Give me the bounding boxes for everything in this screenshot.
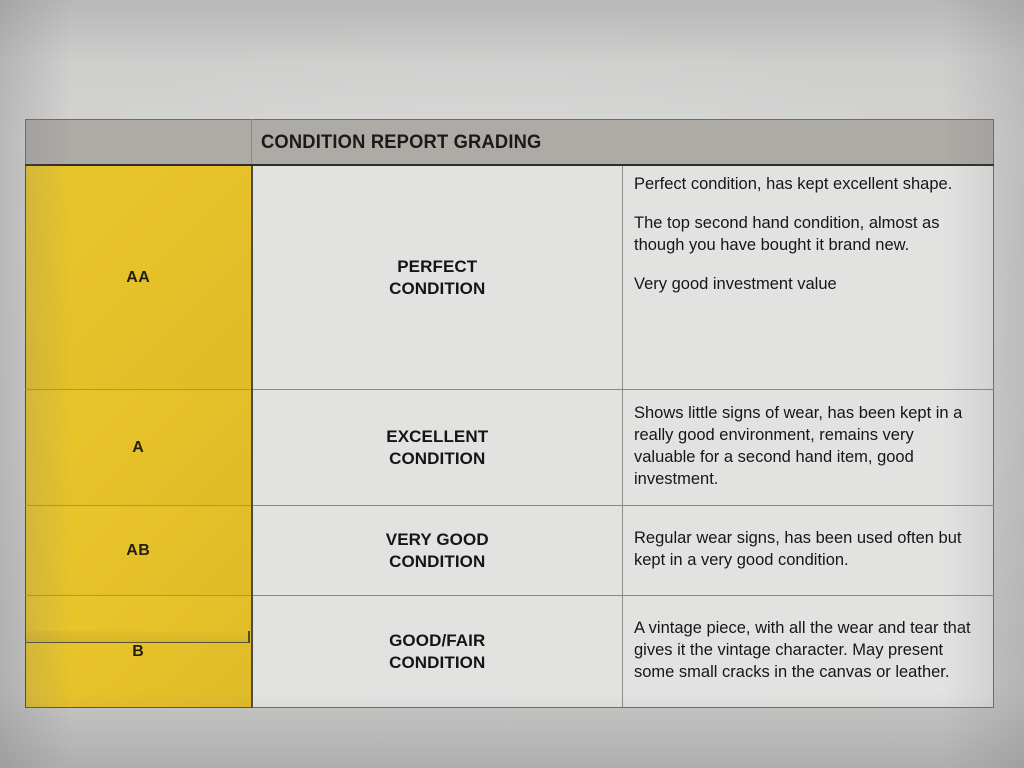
table-header: CONDITION REPORT GRADING [26,120,994,166]
condition-label-line-2: CONDITION [253,278,623,300]
description-cell-b: A vintage piece, with all the wear and t… [623,596,994,708]
grade-badge-a: A [26,390,252,506]
page-title: CONDITION REPORT GRADING [261,131,541,154]
grade-column-overhang [25,631,250,643]
condition-label-ab: VERY GOOD CONDITION [252,506,623,596]
condition-report-table-container: CONDITION REPORT GRADING AA PERFECT COND… [25,119,994,708]
condition-label-line-1: PERFECT [253,256,623,278]
condition-label-line-1: EXCELLENT [253,426,623,448]
table-body: AA PERFECT CONDITION Perfect condition, … [26,165,994,708]
condition-label-b: GOOD/FAIR CONDITION [252,596,623,708]
condition-label-line-2: CONDITION [253,448,623,470]
condition-label-line-1: GOOD/FAIR [253,630,623,652]
description-paragraph: Shows little signs of wear, has been kep… [634,403,979,491]
table-header-row: CONDITION REPORT GRADING [26,120,994,166]
description-paragraph: The top second hand condition, almost as… [634,213,979,257]
condition-label-aa: PERFECT CONDITION [252,165,623,390]
grade-badge-ab: AB [26,506,252,596]
header-grade-spacer [26,120,252,166]
condition-label-line-1: VERY GOOD [253,529,623,551]
description-paragraph: A vintage piece, with all the wear and t… [634,618,979,684]
header-title-cell: CONDITION REPORT GRADING [252,120,994,166]
condition-label-a: EXCELLENT CONDITION [252,390,623,506]
description-paragraph: Very good investment value [634,274,979,296]
table-row: A EXCELLENT CONDITION Shows little signs… [26,390,994,506]
grade-badge-aa: AA [26,165,252,390]
condition-label-line-2: CONDITION [253,652,623,674]
condition-label-line-2: CONDITION [253,551,623,573]
description-cell-ab: Regular wear signs, has been used often … [623,506,994,596]
description-paragraph: Regular wear signs, has been used often … [634,528,979,572]
description-paragraph: Perfect condition, has kept excellent sh… [634,174,979,196]
condition-report-grading-table: CONDITION REPORT GRADING AA PERFECT COND… [25,119,994,708]
grade-badge-b: B [26,596,252,708]
table-row: B GOOD/FAIR CONDITION A vintage piece, w… [26,596,994,708]
table-row: AA PERFECT CONDITION Perfect condition, … [26,165,994,390]
table-row: AB VERY GOOD CONDITION Regular wear sign… [26,506,994,596]
description-cell-aa: Perfect condition, has kept excellent sh… [623,165,994,390]
description-cell-a: Shows little signs of wear, has been kep… [623,390,994,506]
